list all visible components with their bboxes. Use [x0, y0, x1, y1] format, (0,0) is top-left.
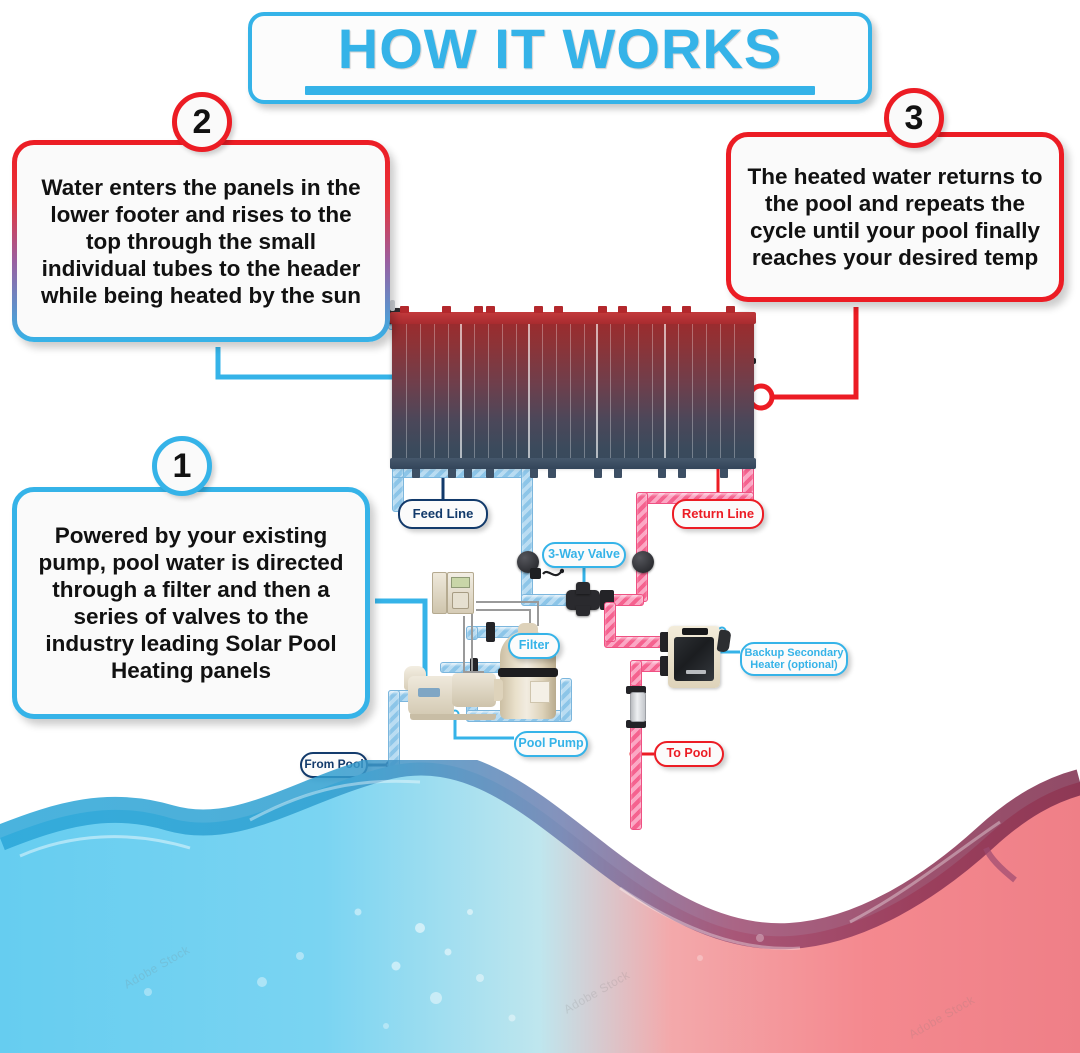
label-filter: Filter [508, 633, 560, 659]
filter-top-elbow [466, 626, 478, 640]
page-title: HOW IT WORKS [338, 21, 782, 77]
heater-inlet-elbow [630, 660, 642, 686]
solar-panel-footer-manifold [390, 458, 756, 469]
callout-step-1-text: Powered by your existing pump, pool wate… [31, 522, 351, 684]
control-panel-display [451, 577, 470, 588]
water-wave-graphic [0, 760, 1080, 1053]
control-panel-icon[interactable] [432, 572, 474, 614]
return-isolation-valve[interactable] [632, 551, 654, 573]
step-badge-2: 2 [172, 92, 232, 152]
solar-panel-absorber [392, 318, 754, 466]
callout-step-3-text: The heated water returns to the pool and… [745, 163, 1045, 271]
pump-base [410, 714, 496, 720]
heater-control-badge [686, 670, 706, 674]
page-title-box: HOW IT WORKS [248, 12, 872, 104]
callout-step-2-text: Water enters the panels in the lower foo… [31, 174, 371, 309]
heater-exhaust-vent [682, 628, 708, 635]
heater-power-cord [717, 629, 732, 652]
filter-label [530, 681, 550, 703]
water-droplet-icon [920, 760, 980, 780]
leader-line-step3 [772, 307, 856, 397]
callout-step-3: The heated water returns to the pool and… [726, 132, 1064, 302]
label-three-way-valve: 3-Way Valve [542, 542, 626, 568]
pump-nameplate [418, 688, 440, 697]
filter-outlet-riser [560, 678, 572, 722]
title-underline-bar [305, 86, 815, 95]
solar-panel-header-manifold [390, 312, 756, 324]
heater-front-panel [674, 637, 714, 681]
label-return-line: Return Line [672, 499, 764, 529]
label-feed-line: Feed Line [398, 499, 488, 529]
control-panel-timer-dial[interactable] [452, 592, 469, 609]
water-wave-icon [0, 760, 1080, 1053]
control-panel-door [432, 572, 447, 614]
infographic-canvas: HOW IT WORKS [0, 0, 1080, 1053]
step-badge-3: 3 [884, 88, 944, 148]
step-badge-1: 1 [152, 436, 212, 496]
label-pool-pump: Pool Pump [514, 731, 588, 757]
three-way-valve-handle[interactable] [576, 582, 590, 594]
pump-motor-cap [494, 679, 503, 701]
filter-clamp-band [498, 668, 558, 677]
callout-step-2: Water enters the panels in the lower foo… [12, 140, 390, 342]
three-way-valve-stem [576, 606, 590, 616]
return-pipe-vertical-down [636, 492, 648, 602]
heater-supply-riser [604, 602, 616, 642]
solar-panel [392, 310, 754, 472]
check-valve-icon [630, 692, 646, 722]
pump-motor [452, 673, 496, 707]
label-backup-heater: Backup Secondary Heater (optional) [740, 642, 848, 676]
callout-step-1: Powered by your existing pump, pool wate… [12, 487, 370, 719]
filter-top-coupler [486, 622, 495, 642]
